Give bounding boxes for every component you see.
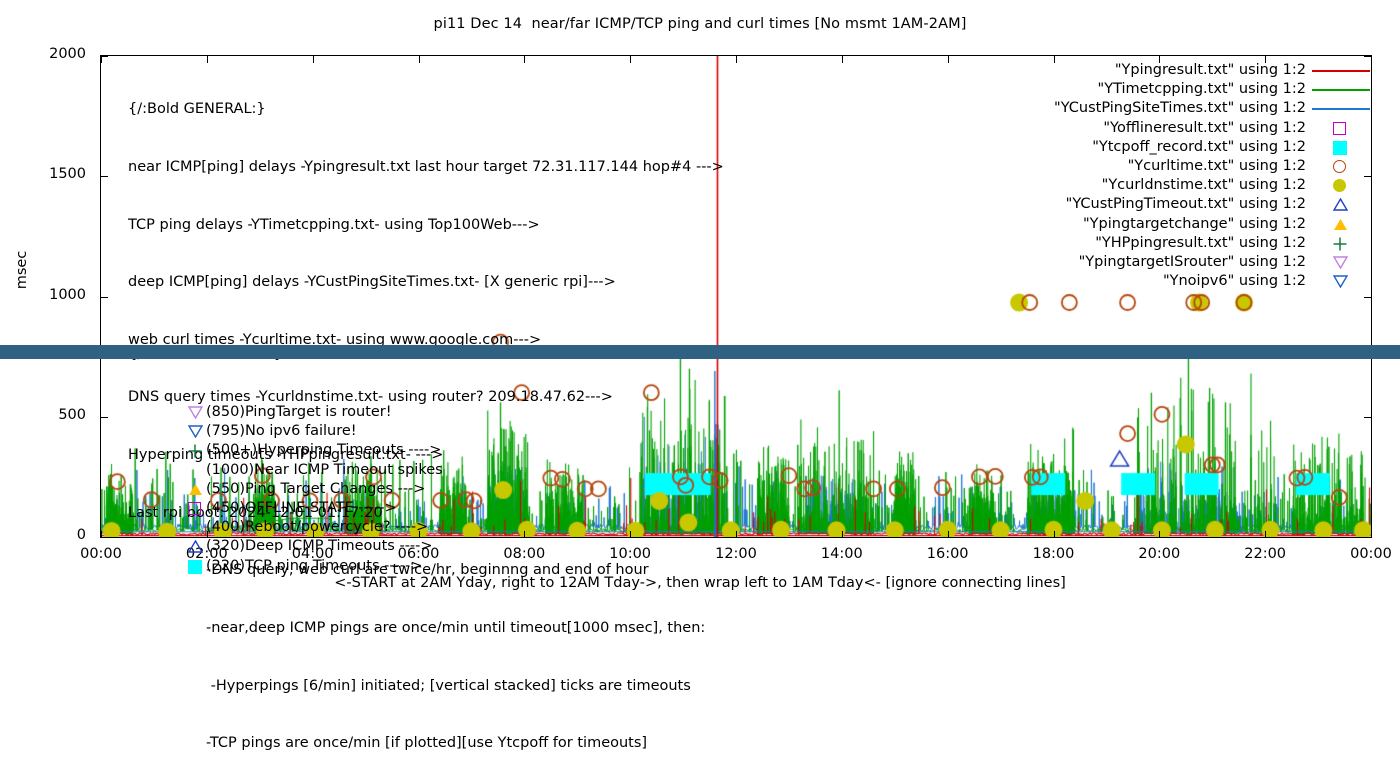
x-tick-mark <box>736 531 737 538</box>
anomaly-item: (500+)Hyperping Timeouts ----> <box>128 441 443 460</box>
legend-item-key <box>1306 99 1372 118</box>
legend-item-label: "Ynoipv6" using 1:2 <box>1163 272 1306 291</box>
y-axis-label: msec <box>14 240 30 300</box>
square-filled-icon <box>188 560 202 574</box>
y-tick-label: 1500 <box>30 166 86 182</box>
legend-item-label: "Yofflineresult.txt" using 1:2 <box>1103 119 1306 138</box>
x-tick-label: 20:00 <box>1114 546 1204 562</box>
legend-item[interactable]: "Ypingtargetchange" using 1:2 <box>1054 215 1372 234</box>
general-detail: -Hyperpings [6/min] initiated; [vertical… <box>128 677 724 696</box>
x-tick-mark <box>1265 531 1266 538</box>
legend-item-label: "YCustPingTimeout.txt" using 1:2 <box>1066 195 1306 214</box>
anomaly-label: (450)OFFLINE STATE -----> <box>206 500 397 516</box>
y-tick-mark <box>1364 297 1372 298</box>
anomaly-item: (795)No ipv6 failure! <box>128 422 443 441</box>
y-tick-mark <box>100 297 108 298</box>
legend-item[interactable]: "Yofflineresult.txt" using 1:2 <box>1054 119 1372 138</box>
circle-filled-icon <box>1333 179 1346 192</box>
general-heading: {/:Bold GENERAL:} <box>128 100 724 119</box>
legend-item-key <box>1306 119 1372 138</box>
anomaly-item: (400)Reboot/powercycle? ----> <box>128 518 443 537</box>
x-tick-mark <box>842 56 843 63</box>
y-tick-label: 500 <box>30 407 86 423</box>
x-tick-mark <box>948 56 949 63</box>
legend-item-label: "YHPpingresult.txt" using 1:2 <box>1095 234 1306 253</box>
legend-item-label: "Ycurldnstime.txt" using 1:2 <box>1102 176 1306 195</box>
square-filled-icon <box>1333 141 1347 155</box>
legend-line-key <box>1312 70 1370 72</box>
x-tick-label: 16:00 <box>903 546 993 562</box>
general-line: TCP ping delays -YTimetcpping.txt- using… <box>128 216 724 235</box>
circle-open-icon <box>1333 160 1346 173</box>
y-tick-label: 0 <box>30 527 86 543</box>
legend-item-label: "Ypingresult.txt" using 1:2 <box>1115 61 1306 80</box>
x-tick-label: 14:00 <box>797 546 887 562</box>
anomaly-label: (320)Deep ICMP Timeouts ----> <box>206 538 433 554</box>
anomaly-item: (850)PingTarget is router! <box>128 403 443 422</box>
x-tick-mark <box>948 531 949 538</box>
band-notch-right <box>1348 345 1360 359</box>
legend-item-key <box>1306 234 1372 253</box>
x-tick-mark <box>1054 531 1055 538</box>
y-tick-label: 2000 <box>30 46 86 62</box>
anomaly-label: (1000)Near ICMP Timeout spikes <box>206 462 443 478</box>
band-notch-left <box>88 345 100 359</box>
x-tick-mark <box>842 531 843 538</box>
x-tick-label: 18:00 <box>1009 546 1099 562</box>
square-open-icon <box>1333 122 1346 135</box>
x-tick-label: 22:00 <box>1220 546 1310 562</box>
legend-item[interactable]: "YTimetcpping.txt" using 1:2 <box>1054 80 1372 99</box>
x-tick-mark <box>1159 531 1160 538</box>
x-tick-mark <box>101 531 102 538</box>
selection-band-overlay[interactable] <box>0 345 1400 359</box>
legend-item[interactable]: "YCustPingSiteTimes.txt" using 1:2 <box>1054 99 1372 118</box>
x-tick-mark <box>101 56 102 63</box>
legend-line-key <box>1312 108 1370 110</box>
legend-item[interactable]: "Ycurltime.txt" using 1:2 <box>1054 157 1372 176</box>
anomaly-label: (500+)Hyperping Timeouts ----> <box>206 442 441 458</box>
legend-item-key <box>1306 138 1372 157</box>
y-tick-mark <box>100 176 108 177</box>
anomaly-label: (550)Ping Target Changes ---> <box>206 481 425 497</box>
page-title: pi11 Dec 14 near/far ICMP/TCP ping and c… <box>0 16 1400 32</box>
triangle-down-open-icon <box>1333 275 1348 294</box>
anomaly-item: (220)TCP ping Timeouts -----> <box>128 557 443 576</box>
legend-item-key <box>1306 80 1372 99</box>
legend-item-key <box>1306 215 1372 234</box>
legend-item-label: "Ycurltime.txt" using 1:2 <box>1128 157 1306 176</box>
y-tick-mark <box>100 417 108 418</box>
legend-item-key <box>1306 253 1372 272</box>
general-line: deep ICMP[ping] delays -YCustPingSiteTim… <box>128 273 724 292</box>
general-detail: -TCP pings are once/min [if plotted][use… <box>128 734 724 753</box>
anomaly-label: (850)PingTarget is router! <box>206 404 392 420</box>
anomaly-item: (320)Deep ICMP Timeouts ----> <box>128 537 443 556</box>
square-open-icon <box>188 502 201 515</box>
anomaly-label: (795)No ipv6 failure! <box>206 423 357 439</box>
legend-item-key <box>1306 272 1372 291</box>
x-tick-mark <box>1371 531 1372 538</box>
legend-line-key <box>1312 89 1370 91</box>
general-line: near ICMP[ping] delays -Ypingresult.txt … <box>128 158 724 177</box>
legend-item[interactable]: "Ypingresult.txt" using 1:2 <box>1054 61 1372 80</box>
legend: "Ypingresult.txt" using 1:2"YTimetcpping… <box>1054 61 1372 291</box>
legend-item-key <box>1306 195 1372 214</box>
anomaly-item: (550)Ping Target Changes ---> <box>128 480 443 499</box>
legend-item-key <box>1306 157 1372 176</box>
legend-item-label: "YTimetcpping.txt" using 1:2 <box>1098 80 1306 99</box>
legend-item-key <box>1306 61 1372 80</box>
legend-item[interactable]: "Ytcpoff_record.txt" using 1:2 <box>1054 138 1372 157</box>
y-tick-mark <box>1364 417 1372 418</box>
anomaly-item: (450)OFFLINE STATE -----> <box>128 499 443 518</box>
legend-item[interactable]: "YpingtargetISrouter" using 1:2 <box>1054 253 1372 272</box>
legend-item[interactable]: "Ynoipv6" using 1:2 <box>1054 272 1372 291</box>
anomalies-list: (850)PingTarget is router!(795)No ipv6 f… <box>128 403 443 576</box>
y-tick-label: 1000 <box>30 287 86 303</box>
x-tick-label: 00:00 <box>1326 546 1400 562</box>
anomaly-label: (400)Reboot/powercycle? ----> <box>206 519 428 535</box>
x-tick-mark <box>736 56 737 63</box>
legend-item[interactable]: "YHPpingresult.txt" using 1:2 <box>1054 234 1372 253</box>
legend-item-label: "YCustPingSiteTimes.txt" using 1:2 <box>1054 99 1306 118</box>
anomaly-label: (220)TCP ping Timeouts -----> <box>206 558 422 574</box>
legend-item-key <box>1306 176 1372 195</box>
general-detail: -near,deep ICMP pings are once/min until… <box>128 619 724 638</box>
legend-item[interactable]: "Ycurldnstime.txt" using 1:2 <box>1054 176 1372 195</box>
legend-item-label: "Ypingtargetchange" using 1:2 <box>1083 215 1306 234</box>
legend-item[interactable]: "YCustPingTimeout.txt" using 1:2 <box>1054 195 1372 214</box>
anomaly-item: (1000)Near ICMP Timeout spikes <box>128 461 443 480</box>
legend-item-label: "Ytcpoff_record.txt" using 1:2 <box>1092 138 1306 157</box>
legend-item-label: "YpingtargetISrouter" using 1:2 <box>1079 253 1306 272</box>
